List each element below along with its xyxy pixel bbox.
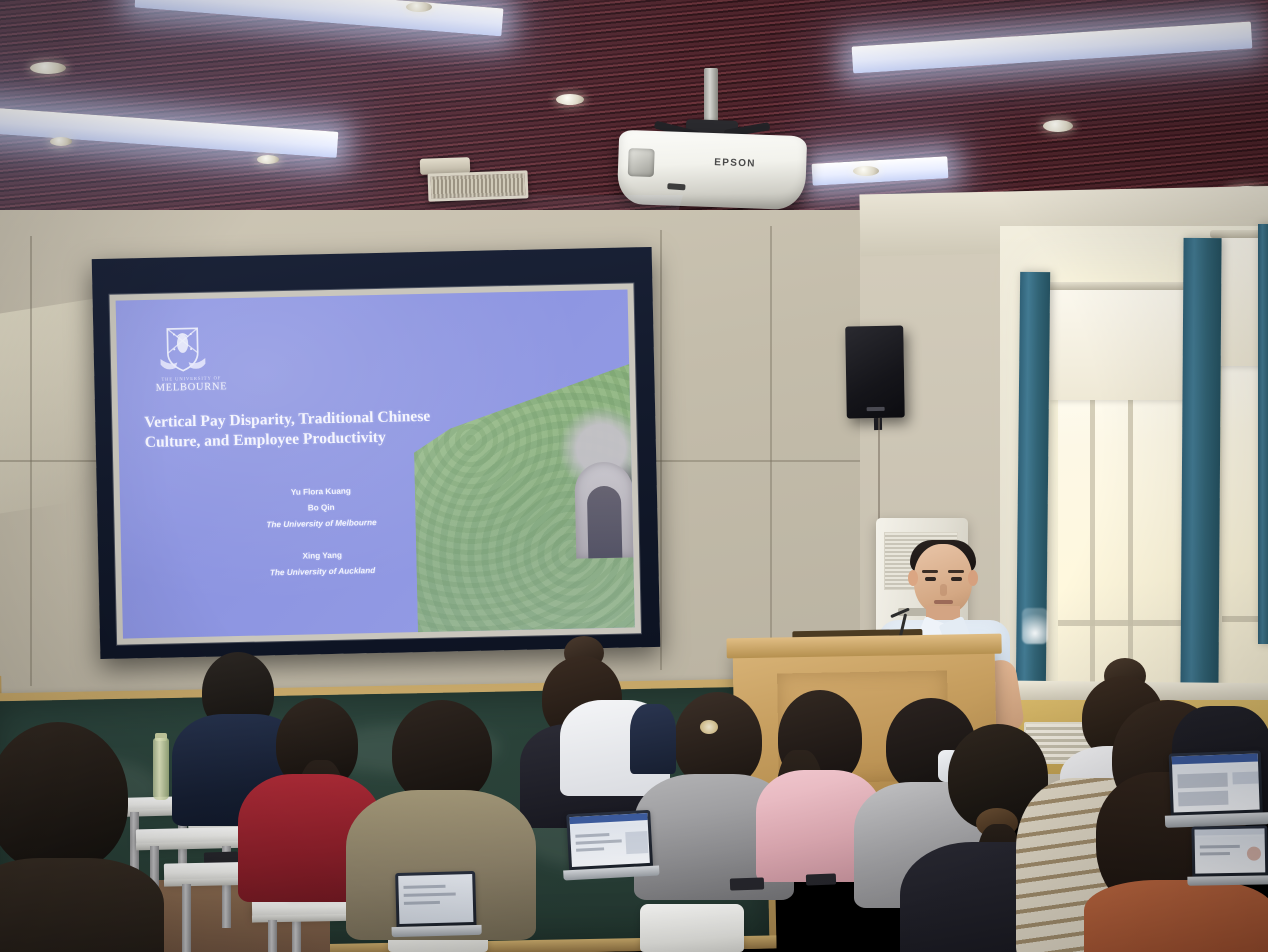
audience-member-foreground-left <box>0 722 160 952</box>
laptop-text-block <box>1177 773 1227 789</box>
recessed-light-6 <box>853 166 879 176</box>
slide-building-photo <box>412 349 635 639</box>
chair-row3-b[interactable] <box>640 904 744 952</box>
desk-leg-5 <box>182 884 191 952</box>
ceiling-air-vent <box>428 170 529 201</box>
laptop-text-line <box>576 847 604 851</box>
laptop-text-line <box>576 839 622 844</box>
laptop-text-block <box>1178 791 1228 807</box>
desk-leg-7 <box>268 920 277 952</box>
laptop-panel <box>625 831 648 854</box>
presenter-eye-right <box>951 577 962 581</box>
laptop-keyboard-base <box>392 925 482 937</box>
laptop-text-line <box>404 901 440 905</box>
projector-brand-label: EPSON <box>714 157 756 169</box>
laptop-keyboard-base <box>1187 875 1268 885</box>
laptop-display-content <box>1195 828 1266 873</box>
head <box>392 700 492 804</box>
laptop-center[interactable] <box>566 810 654 884</box>
podium-top-ledge <box>726 634 1001 659</box>
torso <box>1084 880 1268 952</box>
laptop-avatar <box>1247 846 1261 860</box>
laptop-text-line <box>403 885 445 889</box>
laptop-text-line <box>575 833 609 838</box>
window-blind-bar-1[interactable] <box>1046 282 1194 290</box>
audience-member-back-navy-right <box>630 704 676 774</box>
laptop-text-line <box>1200 845 1240 849</box>
laptop-app-titlebar <box>1195 828 1265 835</box>
window-transom-1 <box>1058 620 1184 626</box>
phone-on-desk-2[interactable] <box>806 873 836 885</box>
laptop-display-content <box>569 813 650 867</box>
recessed-light-5 <box>556 94 584 105</box>
laptop-screen <box>1169 750 1263 815</box>
laptop-text-line <box>1200 852 1230 856</box>
laptop-right-back[interactable] <box>1191 825 1268 888</box>
laptop-app-titlebar <box>569 813 647 824</box>
phone-on-desk-3[interactable] <box>730 877 764 890</box>
wall-panel-seam-3 <box>770 226 772 666</box>
torso <box>0 858 164 952</box>
wall-speaker <box>845 326 905 419</box>
recessed-light-1 <box>30 62 66 74</box>
window-plant <box>1022 608 1048 644</box>
head <box>0 722 128 872</box>
classroom-presentation-photo: EPSON <box>0 0 1268 952</box>
curtain-right[interactable] <box>1258 224 1268 644</box>
laptop-display-content <box>398 874 473 924</box>
curtain-middle[interactable] <box>1180 238 1221 690</box>
projector-mount-pole <box>704 68 718 126</box>
slide-title: Vertical Pay Disparity, Traditional Chin… <box>144 407 435 454</box>
laptop-screen <box>395 871 476 927</box>
laptop-app-titlebar <box>1172 754 1258 765</box>
recessed-light-2 <box>50 137 72 146</box>
wall-conduit <box>878 418 880 528</box>
presenter-mouth <box>934 600 953 604</box>
presenter-eye-left <box>925 577 936 581</box>
recessed-light-3 <box>257 155 279 164</box>
laptop-screen <box>1191 825 1268 876</box>
presenter-eyebrow-left <box>922 570 938 573</box>
laptop-right-front[interactable] <box>1169 750 1264 831</box>
window-blind-1[interactable] <box>1050 288 1190 400</box>
wall-panel-seam-2 <box>660 230 662 670</box>
laptop-left-front[interactable] <box>395 871 477 941</box>
projector-vent-slot <box>667 183 685 190</box>
recessed-light-7 <box>1043 120 1073 132</box>
presenter-ear-right <box>968 570 978 586</box>
recessed-light-4 <box>406 2 432 12</box>
laptop-text-line <box>404 892 456 896</box>
laptop-sidebar-panel <box>1232 772 1258 785</box>
laptop-display-content <box>1172 754 1260 813</box>
melbourne-crest-icon <box>154 321 211 378</box>
presenter-nose <box>940 584 947 596</box>
gothic-archway <box>574 461 634 558</box>
torso <box>630 704 676 774</box>
projector-lens <box>628 148 655 177</box>
laptop-screen <box>566 810 653 870</box>
archway-doorway <box>587 486 623 559</box>
crest-label-large: MELBOURNE <box>143 381 239 394</box>
epson-projector: EPSON <box>617 130 807 211</box>
presenter-ear-left <box>908 570 918 586</box>
slide-author-block: Yu Flora Kuang Bo Qin The University of … <box>206 482 438 583</box>
presentation-slide: THE UNIVERSITY OF MELBOURNE Vertical Pay… <box>116 289 635 638</box>
projection-screen-surface: THE UNIVERSITY OF MELBOURNE Vertical Pay… <box>109 283 641 644</box>
projection-screen-frame: THE UNIVERSITY OF MELBOURNE Vertical Pay… <box>92 247 661 659</box>
presenter-eyebrow-right <box>948 570 964 573</box>
hair-clip <box>700 720 718 734</box>
